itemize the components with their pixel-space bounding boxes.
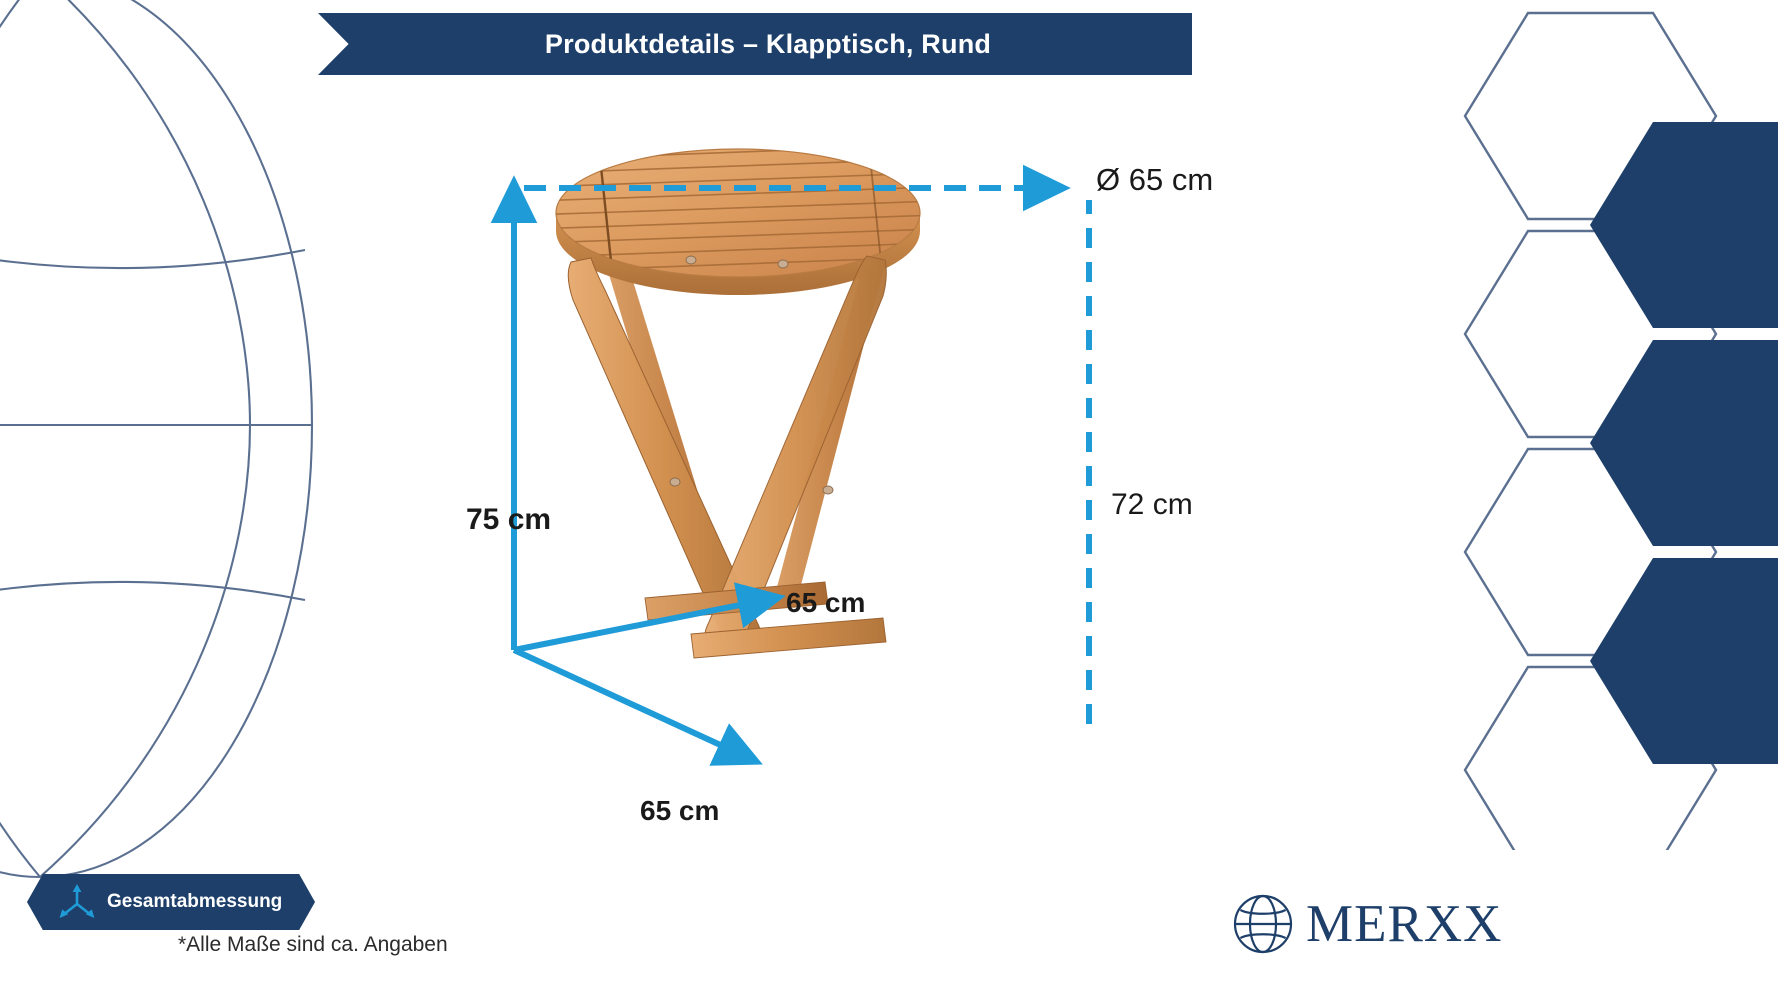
dimension-label-depth: 65 cm: [786, 587, 865, 619]
dimension-label-width: 65 cm: [640, 795, 719, 827]
three-axis-icon: [57, 882, 97, 922]
hexagon-pattern-decoration: [1458, 0, 1778, 850]
globe-icon: [1232, 893, 1294, 955]
product-detail-slide: Produktdetails – Klapptisch, Rund: [0, 0, 1778, 1000]
product-illustration-folding-table: [495, 130, 975, 770]
dimension-label-table-height: 72 cm: [1111, 488, 1193, 522]
page-title: Produktdetails – Klapptisch, Rund: [519, 29, 991, 60]
total-dimension-badge-label: Gesamtabmessung: [107, 891, 282, 913]
brand-name: MERXX: [1306, 898, 1502, 951]
globe-wireframe-decoration: [0, 0, 370, 890]
total-dimension-badge: Gesamtabmessung: [27, 874, 315, 930]
dimension-label-diameter: Ø 65 cm: [1096, 162, 1213, 198]
page-title-banner: Produktdetails – Klapptisch, Rund: [318, 13, 1192, 75]
footnote-approximate-measures: *Alle Maße sind ca. Angaben: [178, 933, 448, 957]
dimension-label-total-height: 75 cm: [466, 503, 551, 537]
brand-logo: MERXX: [1232, 893, 1502, 955]
